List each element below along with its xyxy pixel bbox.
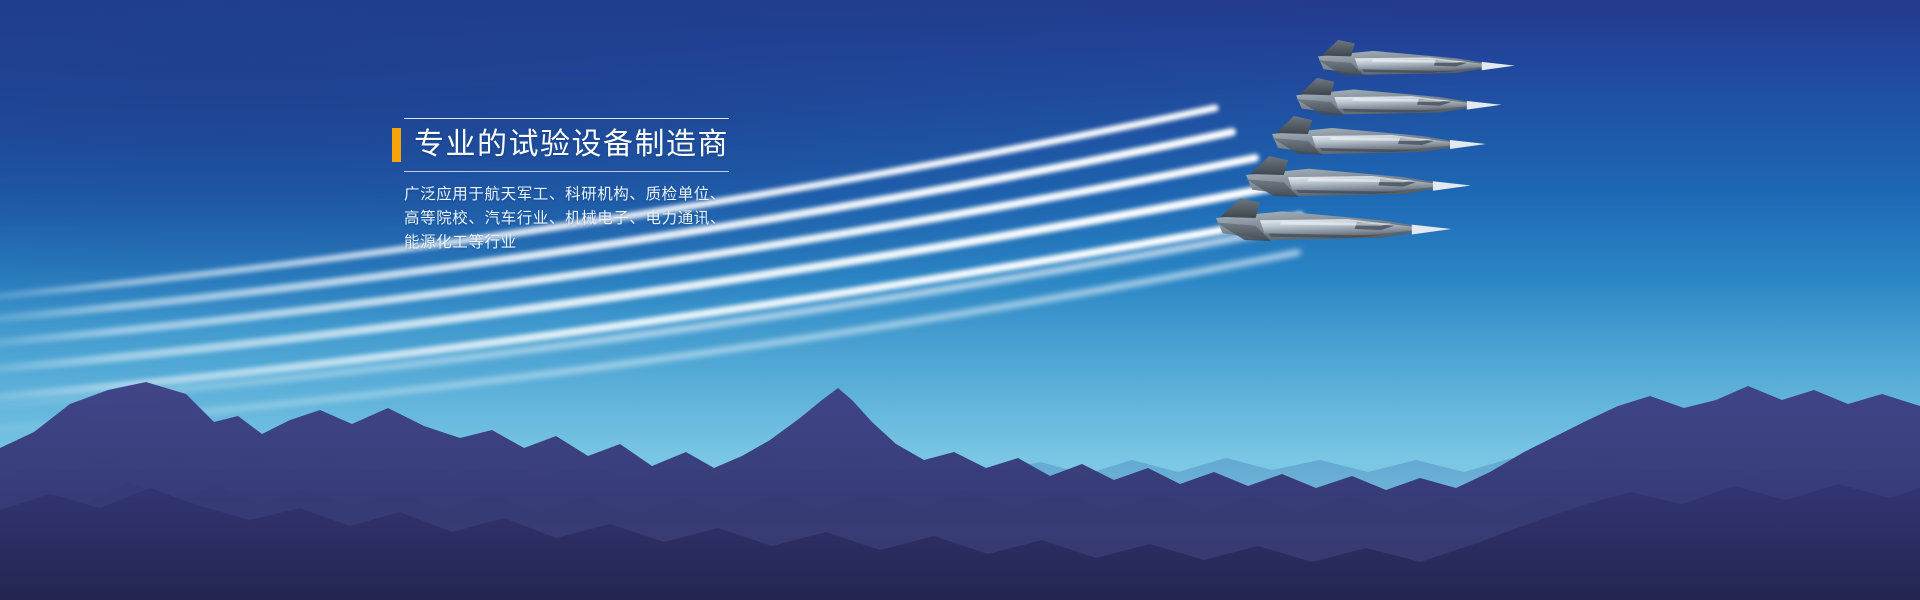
subtitle-line-2: 高等院校、汽车行业、机械电子、电力通讯、: [404, 207, 732, 231]
subtitle-block: 广泛应用于航天军工、科研机构、质检单位、 高等院校、汽车行业、机械电子、电力通讯…: [404, 183, 732, 255]
jet-2: [1246, 156, 1471, 197]
mountain-range-silhouette: [0, 360, 1920, 600]
subtitle-line-1: 广泛应用于航天军工、科研机构、质检单位、: [404, 183, 732, 207]
banner-copy: 专业的试验设备制造商 广泛应用于航天军工、科研机构、质检单位、 高等院校、汽车行…: [392, 118, 732, 255]
jet-5: [1318, 40, 1515, 76]
jet-1: [1216, 198, 1451, 241]
bottom-divider-line: [404, 171, 729, 172]
jet-3: [1272, 116, 1486, 155]
headline-row: 专业的试验设备制造商: [392, 119, 732, 171]
fighter-jet-formation: [1120, 30, 1540, 290]
orange-accent-bar: [392, 128, 401, 162]
jet-4: [1296, 78, 1501, 115]
hero-banner: 专业的试验设备制造商 广泛应用于航天军工、科研机构、质检单位、 高等院校、汽车行…: [0, 0, 1920, 600]
page-title: 专业的试验设备制造商: [414, 128, 729, 162]
subtitle-line-3: 能源化工等行业: [404, 231, 732, 255]
